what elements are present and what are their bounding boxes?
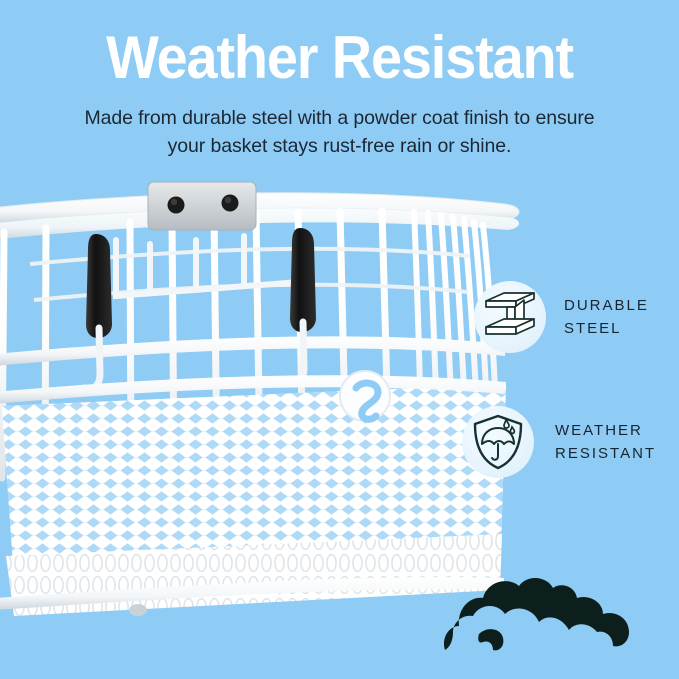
badge-label: WEATHER RESISTANT [555, 419, 656, 465]
cloud-icon [443, 552, 643, 662]
i-beam-icon [482, 289, 538, 345]
mounting-bracket [148, 182, 256, 230]
product-feature-banner: Weather Resistant Made from durable stee… [0, 0, 679, 679]
basket-hook-right [288, 228, 316, 383]
cloud-decoration [443, 552, 643, 662]
page-subtitle: Made from durable steel with a powder co… [70, 104, 610, 160]
badge-label: DURABLE STEEL [564, 294, 649, 340]
badge-circle [462, 406, 534, 478]
feature-badge-durable-steel: DURABLE STEEL [474, 281, 649, 353]
shield-umbrella-icon [470, 413, 526, 471]
brand-emblem [340, 371, 390, 421]
feature-badge-weather-resistant: WEATHER RESISTANT [462, 406, 656, 478]
page-title: Weather Resistant [24, 26, 655, 90]
badge-circle [474, 281, 546, 353]
